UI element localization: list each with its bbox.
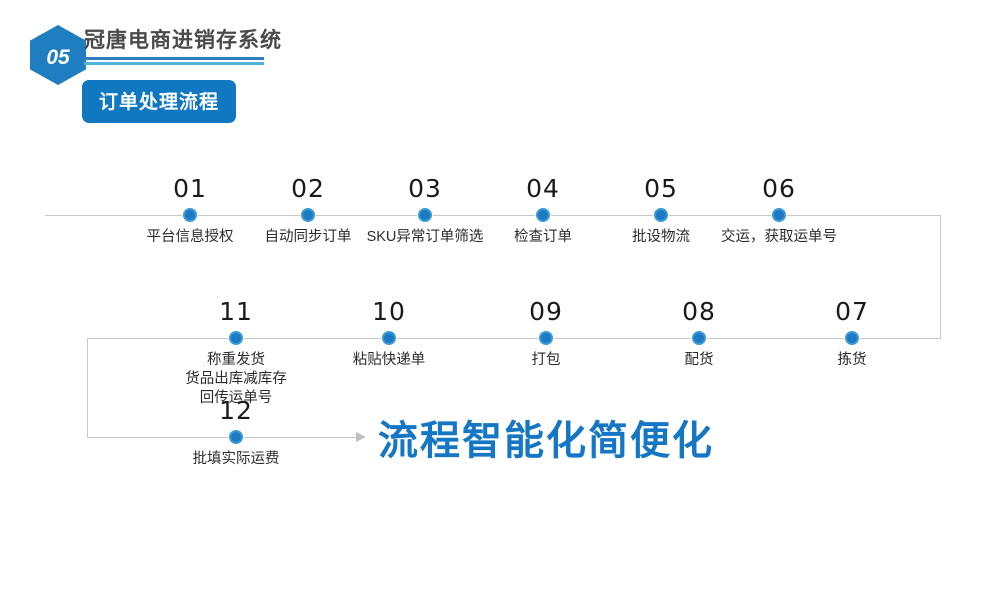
node-caption: 粘贴快递单 [353,351,426,370]
node-caption: 自动同步订单 [265,228,352,247]
node-caption: 交运，获取运单号 [721,228,837,247]
node-dot-icon [382,331,396,345]
timeline-track-row2 [87,338,941,339]
node-caption: 打包 [532,351,561,370]
node-caption-line: 配货 [685,351,714,370]
node-number: 12 [219,396,253,425]
node-caption: 检查订单 [514,228,572,247]
page-title: 冠唐电商进销存系统 [84,28,404,54]
title-underline-primary [84,57,264,60]
title-group: 冠唐电商进销存系统 [84,28,404,65]
badge-number: 05 [30,28,86,88]
section-subtitle-pill: 订单处理流程 [82,80,236,123]
node-number: 02 [291,174,325,203]
node-dot-icon [692,331,706,345]
node-dot-icon [536,208,550,222]
node-number: 08 [682,297,716,326]
node-dot-icon [418,208,432,222]
node-dot-icon [229,331,243,345]
node-number: 06 [762,174,796,203]
headline-text: 流程智能化简便化 [378,408,714,466]
node-number: 03 [408,174,442,203]
node-caption: SKU异常订单筛选 [367,228,484,247]
header-block: 05 冠唐电商进销存系统 订单处理流程 [0,0,420,130]
node-caption: 配货 [685,351,714,370]
flow-arrow-icon [356,432,366,442]
node-number: 07 [835,297,869,326]
node-number: 05 [644,174,678,203]
node-caption-line: 拣货 [838,351,867,370]
section-number-badge: 05 [30,25,86,85]
timeline-connector-right [940,215,941,338]
node-dot-icon [229,430,243,444]
node-dot-icon [183,208,197,222]
node-caption: 平台信息授权 [147,228,234,247]
node-dot-icon [772,208,786,222]
slide-canvas: 05 冠唐电商进销存系统 订单处理流程 01 平台信息授权 02 自动同步订单 … [0,0,1000,595]
node-dot-icon [845,331,859,345]
node-caption-line: 粘贴快递单 [353,351,426,370]
timeline-connector-left [87,338,88,438]
node-dot-icon [301,208,315,222]
node-caption: 批设物流 [632,228,690,247]
node-number: 01 [173,174,207,203]
node-caption-line: 称重发货 [185,351,287,370]
node-number: 04 [526,174,560,203]
node-caption-line: 货品出库减库存 [185,370,287,389]
node-caption: 拣货 [838,351,867,370]
timeline-track-row1 [45,215,940,216]
node-dot-icon [654,208,668,222]
node-number: 11 [219,297,253,326]
node-number: 10 [372,297,406,326]
node-caption: 批填实际运费 [193,450,280,469]
title-underline-secondary [84,62,264,65]
node-caption-line: 打包 [532,351,561,370]
node-number: 09 [529,297,563,326]
timeline-track-row3 [87,437,359,438]
node-dot-icon [539,331,553,345]
